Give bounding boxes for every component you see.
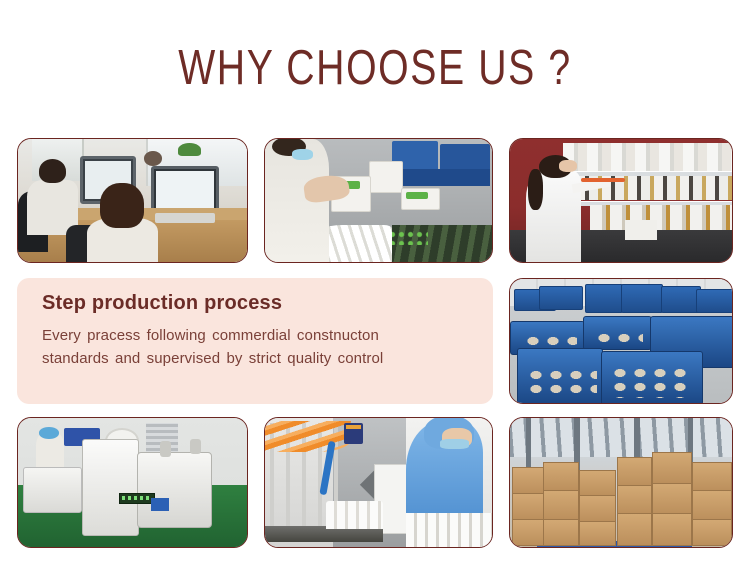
packaging-scene bbox=[265, 139, 492, 262]
gallery-image-boxes[interactable] bbox=[509, 417, 733, 548]
page-title: WHY CHOOSE US ? bbox=[75, 44, 675, 93]
caption-panel: Step production process Every pracess fo… bbox=[17, 278, 493, 404]
gallery-image-office[interactable] bbox=[17, 138, 248, 263]
lab-scene bbox=[510, 139, 732, 262]
gallery-image-lab[interactable] bbox=[509, 138, 733, 263]
gallery-image-packaging[interactable] bbox=[264, 138, 493, 263]
gallery-image-filling[interactable] bbox=[264, 417, 493, 548]
gallery-image-warehouse-crates[interactable] bbox=[509, 278, 733, 404]
caption-line-2: standards and supervised by strict quali… bbox=[42, 347, 471, 370]
machinery-scene bbox=[18, 418, 247, 547]
boxes-scene bbox=[510, 418, 732, 547]
caption-heading: Step production process bbox=[42, 292, 471, 314]
warehouse-crates-scene bbox=[510, 279, 732, 403]
filling-scene bbox=[265, 418, 492, 547]
caption-line-1: Every pracess following commerdial const… bbox=[42, 324, 471, 347]
office-scene bbox=[18, 139, 247, 262]
gallery-image-machinery[interactable] bbox=[17, 417, 248, 548]
